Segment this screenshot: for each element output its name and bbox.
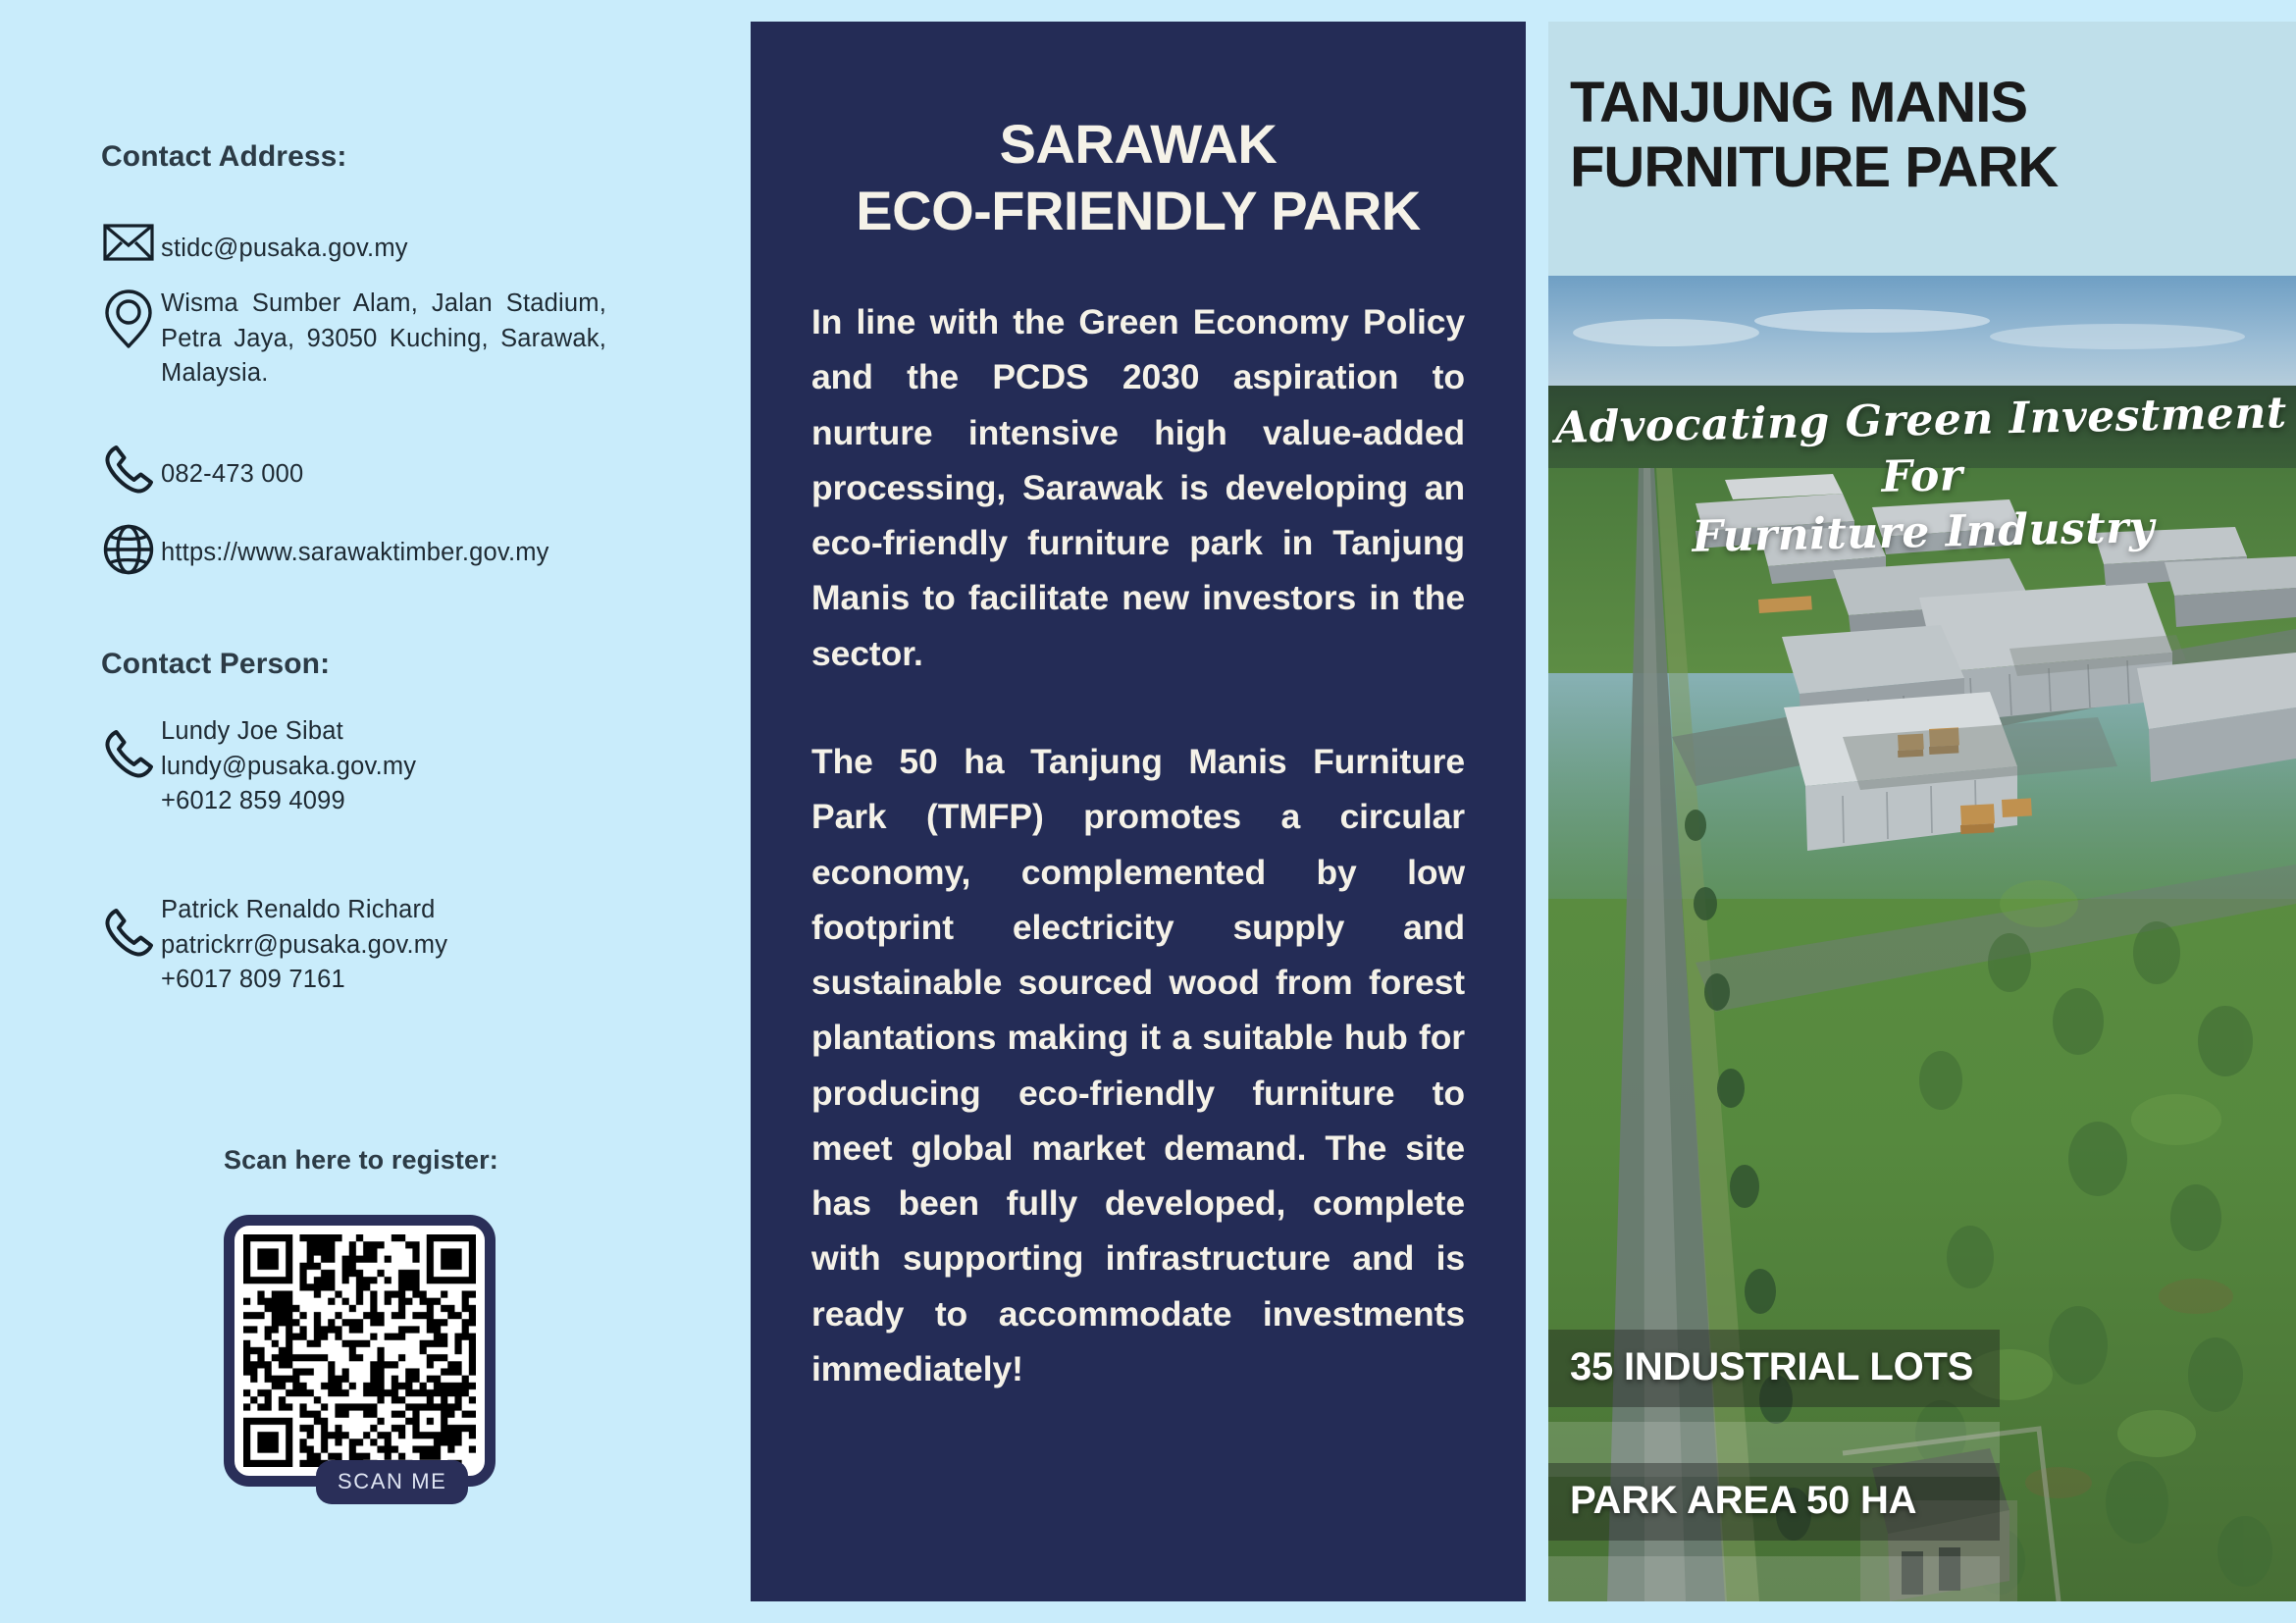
envelope-icon — [96, 224, 161, 261]
phone-value[interactable]: 082-473 000 — [161, 442, 303, 493]
tagline-line-2: Furniture Industry — [1692, 502, 2155, 562]
qr-code-image — [243, 1234, 476, 1467]
contact-row-email: stidc@pusaka.gov.my — [96, 224, 606, 267]
phone-icon — [96, 714, 161, 781]
stat-divider-strip — [1548, 1556, 2000, 1601]
contact-panel: Contact Address: stidc@pusaka.gov.my Wis… — [0, 0, 751, 1623]
hero-title-line-2: FURNITURE PARK — [1548, 135, 2296, 200]
contact-person-1: Lundy Joe Sibat lundy@pusaka.gov.my +601… — [96, 714, 626, 819]
globe-icon — [96, 520, 161, 575]
phone-icon — [96, 893, 161, 960]
scan-me-badge: SCAN ME — [316, 1460, 468, 1504]
stat-park-area: PARK AREA 50 HA — [1548, 1463, 2000, 1541]
contact-row-website: https://www.sarawaktimber.gov.my — [96, 520, 646, 575]
description-panel: SARAWAK ECO-FRIENDLY PARK In line with t… — [751, 22, 1526, 1601]
contact-row-address: Wisma Sumber Alam, Jalan Stadium, Petra … — [96, 287, 606, 392]
person-phone[interactable]: +6017 809 7161 — [161, 966, 345, 993]
qr-code[interactable] — [224, 1215, 496, 1487]
person-phone[interactable]: +6012 859 4099 — [161, 787, 345, 814]
stat-industrial-lots: 35 INDUSTRIAL LOTS — [1548, 1330, 2000, 1407]
brochure-page: Contact Address: stidc@pusaka.gov.my Wis… — [0, 0, 2296, 1623]
address-value: Wisma Sumber Alam, Jalan Stadium, Petra … — [161, 287, 606, 392]
center-title-line-1: SARAWAK — [751, 112, 1526, 177]
hero-title-line-1: TANJUNG MANIS — [1548, 71, 2296, 135]
hero-tagline: Advocating Green Investment For Furnitur… — [1548, 385, 2296, 568]
hero-panel: TANJUNG MANIS FURNITURE PARK — [1548, 22, 2296, 1601]
contact-person-heading: Contact Person: — [101, 648, 330, 681]
person-email[interactable]: lundy@pusaka.gov.my — [161, 753, 416, 780]
contact-address-heading: Contact Address: — [101, 140, 347, 174]
person-details: Patrick Renaldo Richard patrickrr@pusaka… — [161, 893, 447, 998]
person-details: Lundy Joe Sibat lundy@pusaka.gov.my +601… — [161, 714, 416, 819]
description-paragraph-2: The 50 ha Tanjung Manis Furniture Park (… — [751, 734, 1526, 1396]
website-value[interactable]: https://www.sarawaktimber.gov.my — [161, 520, 549, 571]
scan-here-label: Scan here to register: — [224, 1145, 498, 1176]
email-value[interactable]: stidc@pusaka.gov.my — [161, 224, 408, 267]
person-name: Lundy Joe Sibat — [161, 717, 343, 745]
phone-icon — [96, 442, 161, 497]
contact-person-2: Patrick Renaldo Richard patrickrr@pusaka… — [96, 893, 626, 998]
location-pin-icon — [96, 287, 161, 349]
center-title-line-2: ECO-FRIENDLY PARK — [751, 179, 1526, 243]
person-name: Patrick Renaldo Richard — [161, 896, 436, 923]
contact-row-phone: 082-473 000 — [96, 442, 606, 497]
tagline-line-1: Advocating Green Investment For — [1554, 388, 2287, 502]
description-paragraph-1: In line with the Green Economy Policy an… — [751, 294, 1526, 681]
person-email[interactable]: patrickrr@pusaka.gov.my — [161, 931, 447, 959]
